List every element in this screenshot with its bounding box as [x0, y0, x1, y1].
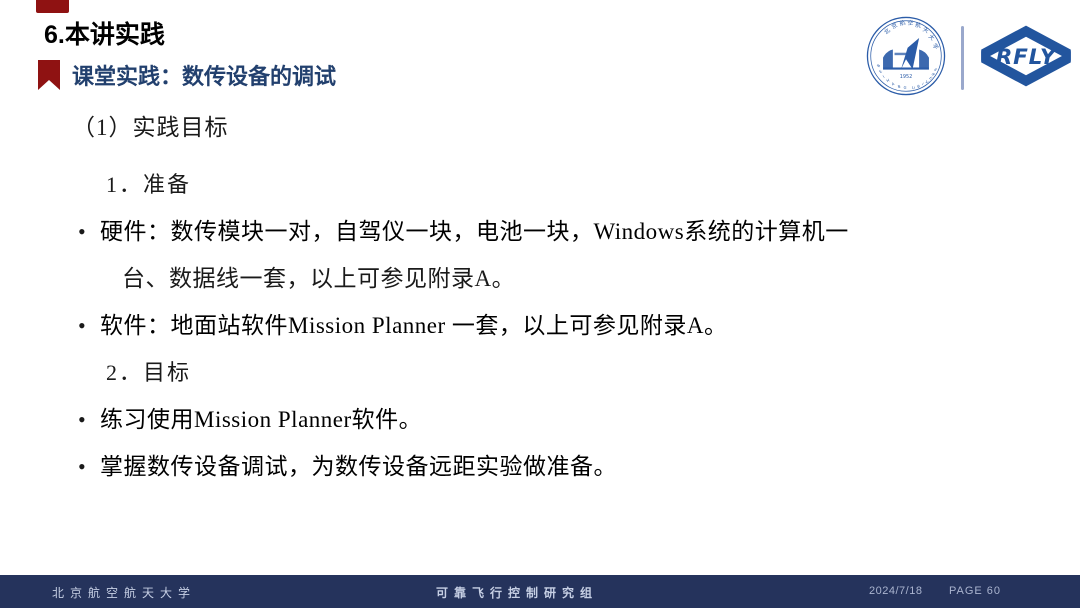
svg-text:大: 大 [927, 32, 937, 42]
bookmark-icon [38, 60, 60, 90]
list-item: • 软件：地面站软件Mission Planner 一套，以上可参见附录A。 [0, 302, 1080, 349]
bullet-icon: • [78, 443, 100, 490]
slide-footer: 北京航空航天大学 可靠飞行控制研究组 2024/7/18 PAGE 60 [0, 575, 1080, 608]
list-item: • 练习使用Mission Planner软件。 [0, 396, 1080, 443]
svg-text:京: 京 [890, 20, 899, 30]
spacer [0, 151, 1080, 161]
bullet-hardware-line1: 硬件：数传模块一对，自驾仪一块，电池一块，Windows系统的计算机一 [100, 208, 849, 255]
svg-text:N: N [898, 84, 901, 88]
list-item-goal-heading: 2．目标 [0, 349, 1080, 396]
footer-lab-name: 可靠飞行控制研究组 [436, 584, 598, 601]
bullet-icon: • [78, 396, 100, 443]
list-item-preparation-heading: 1．准备 [0, 161, 1080, 208]
svg-text:空: 空 [907, 18, 913, 26]
red-tab-marker [36, 0, 69, 13]
svg-text:天: 天 [922, 26, 930, 35]
footer-university-name: 北京航空航天大学 [52, 584, 196, 601]
bullet-icon: • [78, 302, 100, 349]
svg-text:北: 北 [882, 26, 892, 36]
svg-text:G: G [903, 85, 906, 89]
buaa-seal-logo: 北 京 航 空 航 天 大 学 B E I H A N G U [865, 15, 947, 102]
slide-body: （1）实践目标 1．准备 • 硬件：数传模块一对，自驾仪一块，电池一块，Wind… [0, 104, 1080, 490]
page-title: 6.本讲实践 [44, 20, 165, 50]
logo-divider [961, 26, 964, 90]
svg-text:H: H [886, 78, 890, 83]
svg-text:A: A [891, 81, 895, 86]
svg-text:航: 航 [899, 18, 907, 27]
bullet-icon: • [78, 208, 100, 255]
slide-subtitle: 课堂实践：数传设备的调试 [72, 62, 336, 92]
svg-text:航: 航 [915, 20, 922, 29]
svg-text:E: E [928, 76, 933, 81]
bullet-hardware-line2: 台、数据线一套，以上可参见附录A。 [0, 255, 1080, 302]
svg-text:I: I [921, 82, 924, 86]
svg-text:RFLY: RFLY [996, 45, 1058, 70]
presentation-slide: 6.本讲实践 课堂实践：数传设备的调试 北 京 航 空 航 天 大 [0, 0, 1080, 608]
bullet-goal-master: 掌握数传设备调试，为数传设备远距实验做准备。 [100, 443, 617, 490]
svg-text:I: I [882, 75, 885, 79]
logo-area: 北 京 航 空 航 天 大 学 B E I H A N G U [865, 14, 1074, 102]
objective-heading: （1）实践目标 [0, 104, 1080, 151]
bullet-goal-practice: 练习使用Mission Planner软件。 [100, 396, 422, 443]
rfly-logo: RFLY [978, 22, 1074, 95]
svg-text:E: E [878, 68, 883, 73]
footer-date: 2024/7/18 [869, 585, 922, 597]
svg-text:B: B [876, 63, 881, 68]
bullet-software: 软件：地面站软件Mission Planner 一套，以上可参见附录A。 [100, 302, 728, 349]
list-item: • 硬件：数传模块一对，自驾仪一块，电池一块，Windows系统的计算机一 [0, 208, 1080, 255]
list-item: • 掌握数传设备调试，为数传设备远距实验做准备。 [0, 443, 1080, 490]
svg-text:1952: 1952 [900, 74, 913, 80]
footer-page-number: PAGE 60 [949, 585, 1001, 597]
